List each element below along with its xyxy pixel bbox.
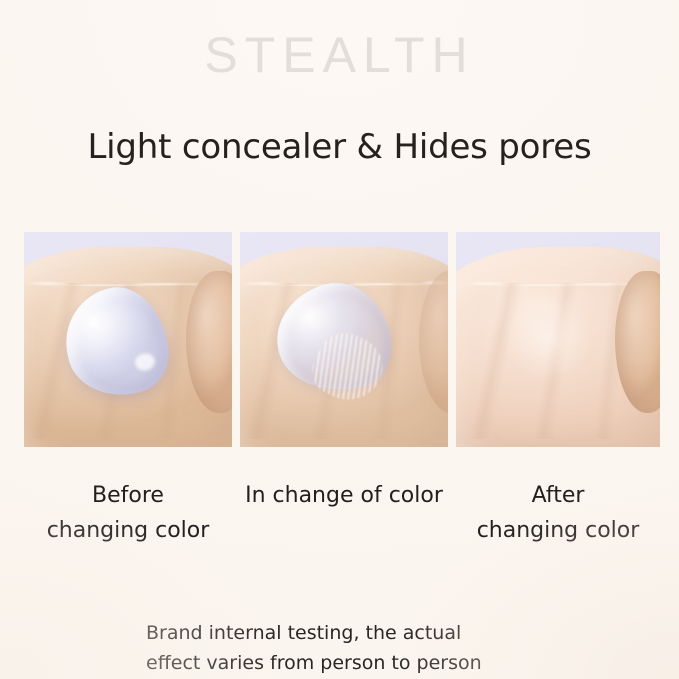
- brand-wordmark: STEALTH: [0, 28, 679, 83]
- demo-caption-row: Before changing color In change of color…: [24, 478, 660, 548]
- product-promo-page: STEALTH Light concealer & Hides pores: [0, 0, 679, 679]
- disclaimer-line1: Brand internal testing, the actual: [146, 618, 566, 648]
- demo-image-before: [24, 232, 232, 447]
- demo-image-in-change: [240, 232, 448, 447]
- page-title: Light concealer & Hides pores: [0, 127, 679, 168]
- demo-image-after: [456, 232, 660, 447]
- caption-before: Before changing color: [24, 478, 232, 548]
- caption-after: After changing color: [456, 478, 660, 548]
- caption-before-line1: Before: [92, 483, 164, 508]
- caption-in-change: In change of color: [240, 478, 448, 548]
- demo-panel-strip: [24, 232, 660, 447]
- caption-after-line2: changing color: [456, 513, 660, 548]
- disclaimer-note: Brand internal testing, the actual effec…: [146, 618, 566, 678]
- blended-skin-sheen: [489, 279, 607, 395]
- caption-before-line2: changing color: [24, 513, 232, 548]
- caption-after-line1: After: [532, 483, 585, 508]
- caption-in-change-line1: In change of color: [245, 483, 443, 508]
- disclaimer-line2: effect varies from person to person: [146, 648, 566, 678]
